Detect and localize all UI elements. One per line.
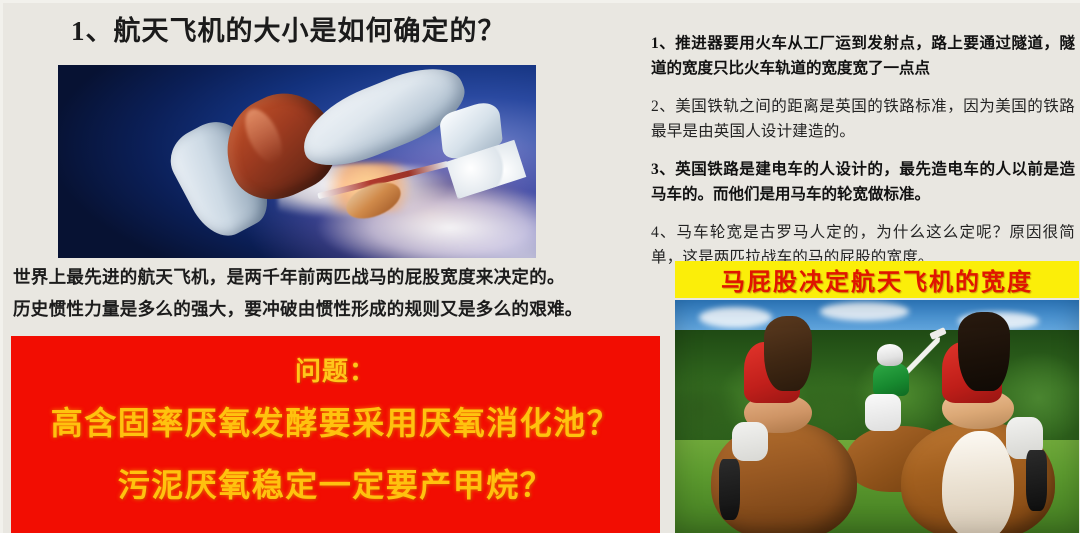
- polo-cloud-1: [699, 307, 772, 328]
- center-rider-helmet: [877, 344, 903, 365]
- center-rider-pants: [865, 394, 901, 431]
- page-title: 1、航天飞机的大小是如何确定的？: [71, 14, 591, 50]
- left-rider-boot: [719, 459, 739, 520]
- polo-cloud-2: [820, 302, 909, 321]
- question-box: 问题： 高含固率厌氧发酵要采用厌氧消化池？ 污泥厌氧稳定一定要产甲烷？: [11, 336, 660, 533]
- caption-banner-text: 马屁股决定航天飞机的宽度: [721, 262, 1033, 297]
- polo-riders-image: [675, 300, 1079, 533]
- right-rider-hair: [958, 312, 1011, 392]
- caption-banner: 马屁股决定航天飞机的宽度: [675, 261, 1079, 298]
- question-line-2: 污泥厌氧稳定一定要产甲烷？: [118, 454, 554, 516]
- space-shuttle-image: [58, 65, 536, 258]
- left-rider-pants: [732, 422, 768, 462]
- right-rider-boot: [1026, 450, 1046, 511]
- explanation-list: 1、推进器要用火车从工厂运到发射点，路上要通过隧道，隧道的宽度只比火车轨道的宽度…: [651, 31, 1075, 283]
- center-rider-jersey: [873, 363, 909, 396]
- right-horse-white-tail: [942, 431, 1015, 533]
- question-heading: 问题：: [295, 352, 376, 392]
- list-item-3: 3、英国铁路是建电车的人设计的，最先造电车的人以前是造马车的。而他们是用马车的轮…: [651, 157, 1075, 207]
- conclusion-paragraph: 世界上最先进的航天飞机，是两千年前两匹战马的屁股宽度来决定的。 历史惯性力量是多…: [13, 261, 661, 325]
- question-line-1: 高含固率厌氧发酵要采用厌氧消化池？: [51, 392, 621, 454]
- list-item-1: 1、推进器要用火车从工厂运到发射点，路上要通过隧道，隧道的宽度只比火车轨道的宽度…: [651, 31, 1075, 81]
- left-rider-hair: [764, 316, 812, 391]
- conclusion-line-1: 世界上最先进的航天飞机，是两千年前两匹战马的屁股宽度来决定的。: [13, 261, 661, 293]
- conclusion-line-2: 历史惯性力量是多么的强大，要冲破由惯性形成的规则又是多么的艰难。: [13, 293, 661, 325]
- list-item-2: 2、美国铁轨之间的距离是英国的铁路标准，因为美国的铁路最早是由英国人设计建造的。: [651, 94, 1075, 144]
- slide-canvas: 1、航天飞机的大小是如何确定的？ 1、推进器要用火车从工厂运到发射点，路上要通过…: [0, 0, 1080, 533]
